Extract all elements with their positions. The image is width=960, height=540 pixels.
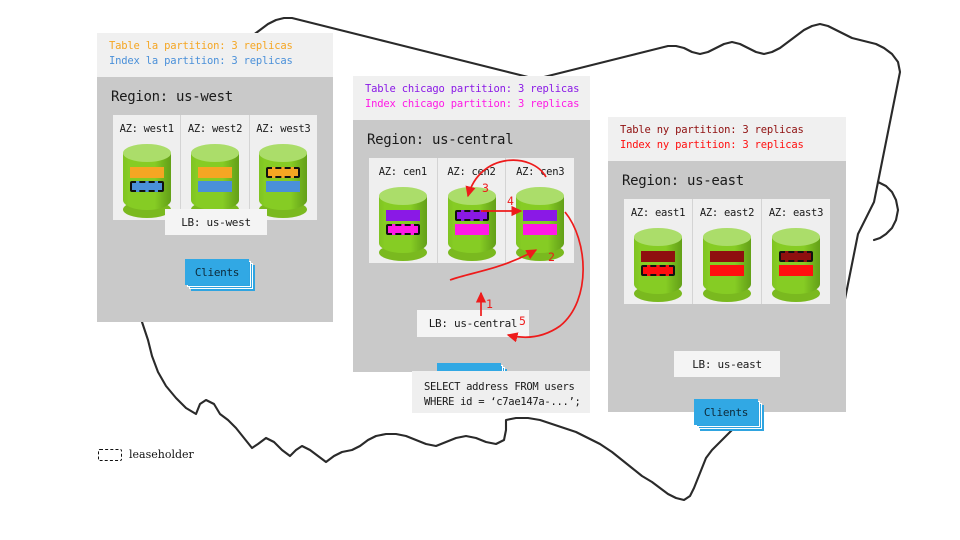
replica-cylinder-west1[interactable] (123, 144, 171, 218)
diagram-stage: Table la partition: 3 replicas Index la … (0, 0, 960, 540)
legend-line-table: Table ny partition: 3 replicas (620, 123, 836, 138)
replica-cylinder-cen3[interactable] (516, 187, 564, 261)
cylinder-top (448, 187, 496, 205)
load-balancer-us-west[interactable]: LB: us-west (165, 209, 267, 235)
az-container-us-west: AZ: west1 AZ: west2 (113, 115, 317, 220)
table-replica-bar (523, 210, 557, 221)
az-cell-west1[interactable]: AZ: west1 (113, 115, 181, 220)
az-cell-cen2[interactable]: AZ: cen2 (438, 158, 507, 263)
region-body-us-east: Region: us-east AZ: east1 AZ: east2 (608, 161, 846, 412)
cylinder-top (191, 144, 239, 162)
table-replica-bar (198, 167, 232, 178)
table-replica-bar (710, 251, 744, 262)
clients-label: Clients (694, 399, 758, 425)
partition-legend-us-east: Table ny partition: 3 replicas Index ny … (608, 117, 846, 161)
cylinder-top (772, 228, 820, 246)
az-cell-west3[interactable]: AZ: west3 (250, 115, 317, 220)
region-panel-us-east: Table ny partition: 3 replicas Index ny … (608, 117, 846, 412)
region-title: Region: us-east (608, 161, 846, 189)
replica-cylinder-cen2[interactable] (448, 187, 496, 261)
region-panel-us-west: Table la partition: 3 replicas Index la … (97, 33, 333, 322)
legend-line-table: Table chicago partition: 3 replicas (365, 82, 580, 97)
load-balancer-us-central[interactable]: LB: us-central (417, 310, 529, 337)
region-panel-us-central: Table chicago partition: 3 replicas Inde… (353, 76, 590, 372)
replica-cylinder-east1[interactable] (634, 228, 682, 302)
table-replica-bar (386, 210, 420, 221)
sql-query-box: SELECT address FROM users WHERE id = ‘c7… (412, 371, 590, 413)
partition-legend-us-west: Table la partition: 3 replicas Index la … (97, 33, 333, 77)
legend-line-index: Index la partition: 3 replicas (109, 54, 323, 69)
region-body-us-central: Region: us-central AZ: cen1 AZ: cen2 (353, 120, 590, 372)
sql-line-1: SELECT address FROM users (424, 380, 578, 395)
index-replica-bar (710, 265, 744, 276)
legend-line-table: Table la partition: 3 replicas (109, 39, 323, 54)
index-replica-bar-leaseholder (130, 181, 164, 192)
az-cell-east3[interactable]: AZ: east3 (762, 199, 830, 304)
region-title: Region: us-central (353, 120, 590, 148)
az-cell-west2[interactable]: AZ: west2 (181, 115, 249, 220)
clients-us-west[interactable]: Clients (185, 259, 249, 285)
az-container-us-east: AZ: east1 AZ: east2 (624, 199, 830, 304)
index-replica-bar-leaseholder (386, 224, 420, 235)
sql-line-2: WHERE id = ‘c7ae147a-...’; (424, 395, 578, 410)
clients-us-east[interactable]: Clients (694, 399, 758, 425)
index-replica-bar (455, 224, 489, 235)
az-label: AZ: west2 (188, 123, 242, 135)
az-cell-east2[interactable]: AZ: east2 (693, 199, 762, 304)
partition-legend-us-central: Table chicago partition: 3 replicas Inde… (353, 76, 590, 120)
replica-cylinder-cen1[interactable] (379, 187, 427, 261)
replica-cylinder-east2[interactable] (703, 228, 751, 302)
az-label: AZ: east2 (700, 207, 754, 219)
az-label: AZ: cen1 (379, 166, 427, 178)
az-label: AZ: cen2 (447, 166, 495, 178)
cylinder-top (123, 144, 171, 162)
table-replica-bar-leaseholder (455, 210, 489, 221)
replica-cylinder-east3[interactable] (772, 228, 820, 302)
cylinder-top (259, 144, 307, 162)
cylinder-top (379, 187, 427, 205)
legend-line-index: Index chicago partition: 3 replicas (365, 97, 580, 112)
table-replica-bar-leaseholder (266, 167, 300, 178)
cylinder-top (703, 228, 751, 246)
cylinder-top (516, 187, 564, 205)
az-label: AZ: west3 (256, 123, 310, 135)
az-container-us-central: AZ: cen1 AZ: cen2 (369, 158, 574, 263)
index-replica-bar (779, 265, 813, 276)
legend-line-index: Index ny partition: 3 replicas (620, 138, 836, 153)
az-cell-cen1[interactable]: AZ: cen1 (369, 158, 438, 263)
index-replica-bar-leaseholder (641, 265, 675, 276)
az-label: AZ: east1 (631, 207, 685, 219)
leaseholder-legend-label: leaseholder (129, 448, 194, 461)
az-label: AZ: cen3 (516, 166, 564, 178)
load-balancer-us-east[interactable]: LB: us-east (674, 351, 780, 377)
index-replica-bar (198, 181, 232, 192)
replica-cylinder-west2[interactable] (191, 144, 239, 218)
leaseholder-legend: leaseholder (98, 448, 194, 461)
table-replica-bar (130, 167, 164, 178)
table-replica-bar-leaseholder (779, 251, 813, 262)
az-cell-east1[interactable]: AZ: east1 (624, 199, 693, 304)
replica-cylinder-west3[interactable] (259, 144, 307, 218)
index-replica-bar (266, 181, 300, 192)
cylinder-top (634, 228, 682, 246)
region-body-us-west: Region: us-west AZ: west1 AZ: west2 (97, 77, 333, 322)
az-label: AZ: west1 (120, 123, 174, 135)
index-replica-bar (523, 224, 557, 235)
az-cell-cen3[interactable]: AZ: cen3 (506, 158, 574, 263)
table-replica-bar (641, 251, 675, 262)
region-title: Region: us-west (97, 77, 333, 105)
clients-label: Clients (185, 259, 249, 285)
leaseholder-swatch-icon (98, 449, 122, 461)
az-label: AZ: east3 (769, 207, 823, 219)
